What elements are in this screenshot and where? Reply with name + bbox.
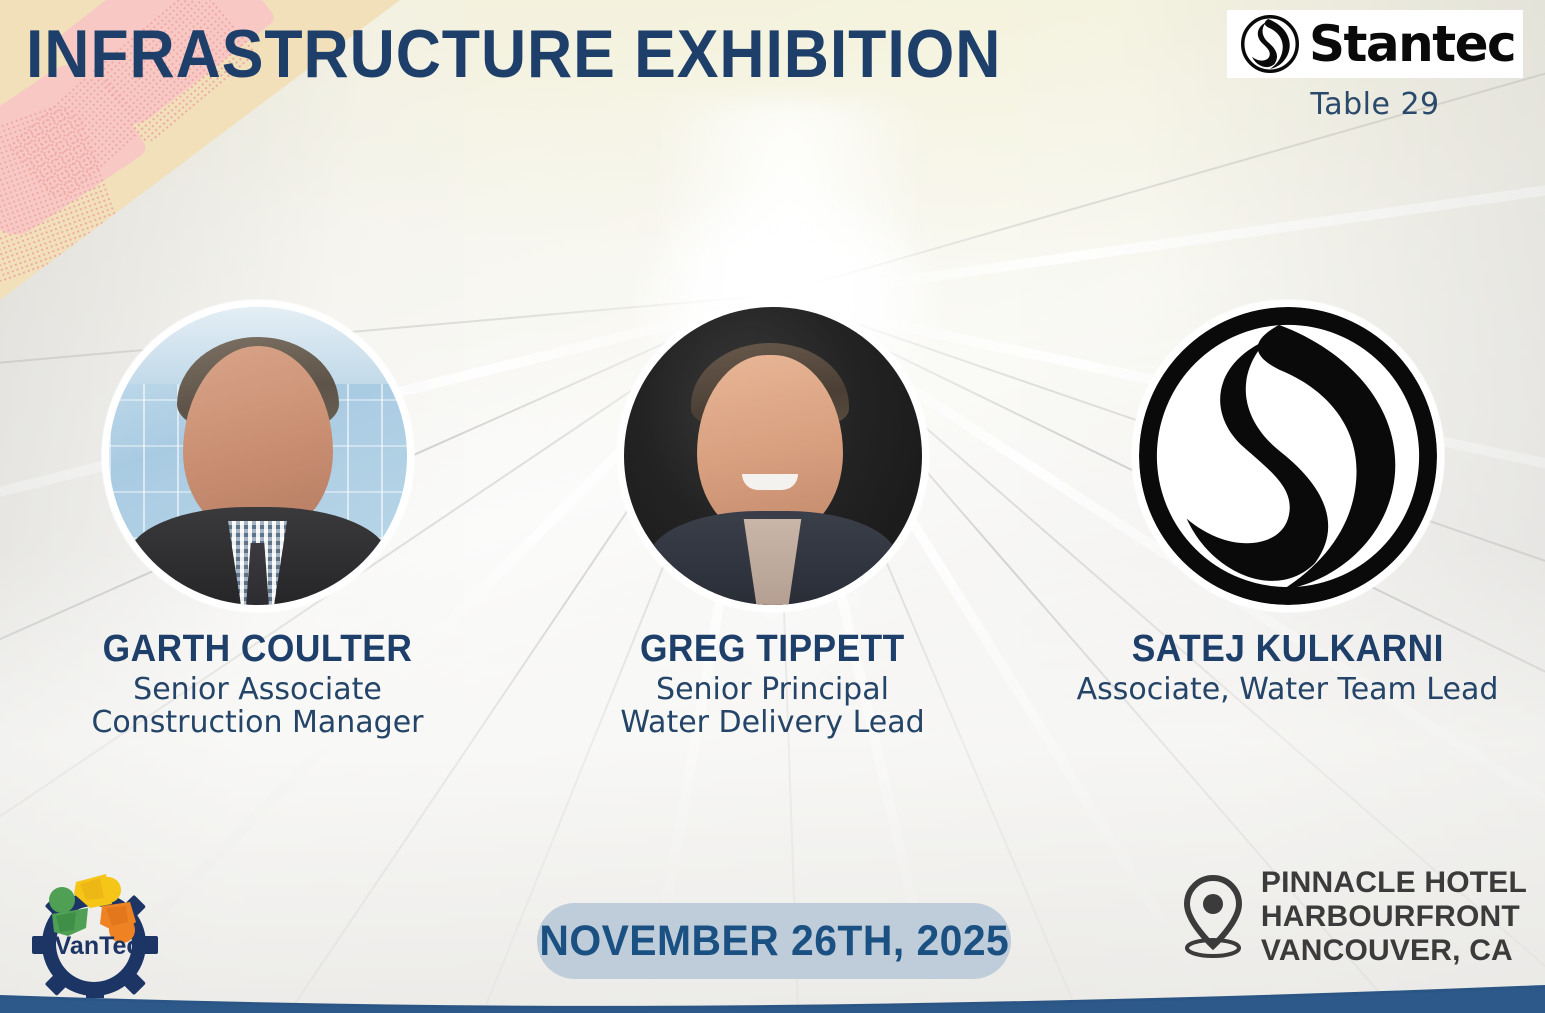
stantec-logo-mark-icon [1139, 307, 1437, 605]
speaker-name: GARTH COULTER [103, 630, 413, 669]
organizer-logo: InVanTech [16, 858, 172, 998]
event-date-badge: NOVEMBER 26TH, 2025 [537, 903, 1011, 979]
speaker-card: SATEJ KULKARNI Associate, Water Team Lea… [1030, 300, 1545, 740]
avatar [102, 300, 414, 612]
stantec-mark-icon [1241, 15, 1299, 73]
event-poster: INFRASTRUCTURE EXHIBITION Stantec Table … [0, 0, 1545, 1013]
speakers-row: GARTH COULTER Senior Associate Construct… [0, 300, 1545, 740]
speaker-role: Senior Principal Water Delivery Lead [620, 673, 924, 740]
location-pin-icon [1179, 874, 1247, 960]
speaker-card: GARTH COULTER Senior Associate Construct… [0, 300, 515, 740]
avatar [1132, 300, 1444, 612]
sponsor-wordmark: Stantec [1309, 19, 1515, 69]
venue-block: PINNACLE HOTEL HARBOURFRONT VANCOUVER, C… [1179, 866, 1527, 969]
speaker-name: SATEJ KULKARNI [1131, 630, 1443, 669]
speaker-card: GREG TIPPETT Senior Principal Water Deli… [515, 300, 1030, 740]
table-number: Table 29 [1227, 87, 1523, 122]
avatar [617, 300, 929, 612]
speaker-name: GREG TIPPETT [640, 630, 905, 669]
sponsor-logo: Stantec [1227, 10, 1523, 78]
speaker-role: Associate, Water Team Lead [1077, 673, 1499, 707]
portrait-greg-tippett-image [624, 307, 922, 605]
speaker-role: Senior Associate Construction Manager [91, 673, 423, 740]
portrait-garth-coulter-image [109, 307, 407, 605]
venue-address: PINNACLE HOTEL HARBOURFRONT VANCOUVER, C… [1261, 866, 1527, 969]
sponsor-block: Stantec Table 29 [1227, 10, 1523, 122]
bottom-band [0, 979, 1545, 1013]
event-date: NOVEMBER 26TH, 2025 [539, 917, 1009, 966]
organizer-name: InVanTech [32, 932, 155, 960]
page-title: INFRASTRUCTURE EXHIBITION [26, 20, 1001, 88]
